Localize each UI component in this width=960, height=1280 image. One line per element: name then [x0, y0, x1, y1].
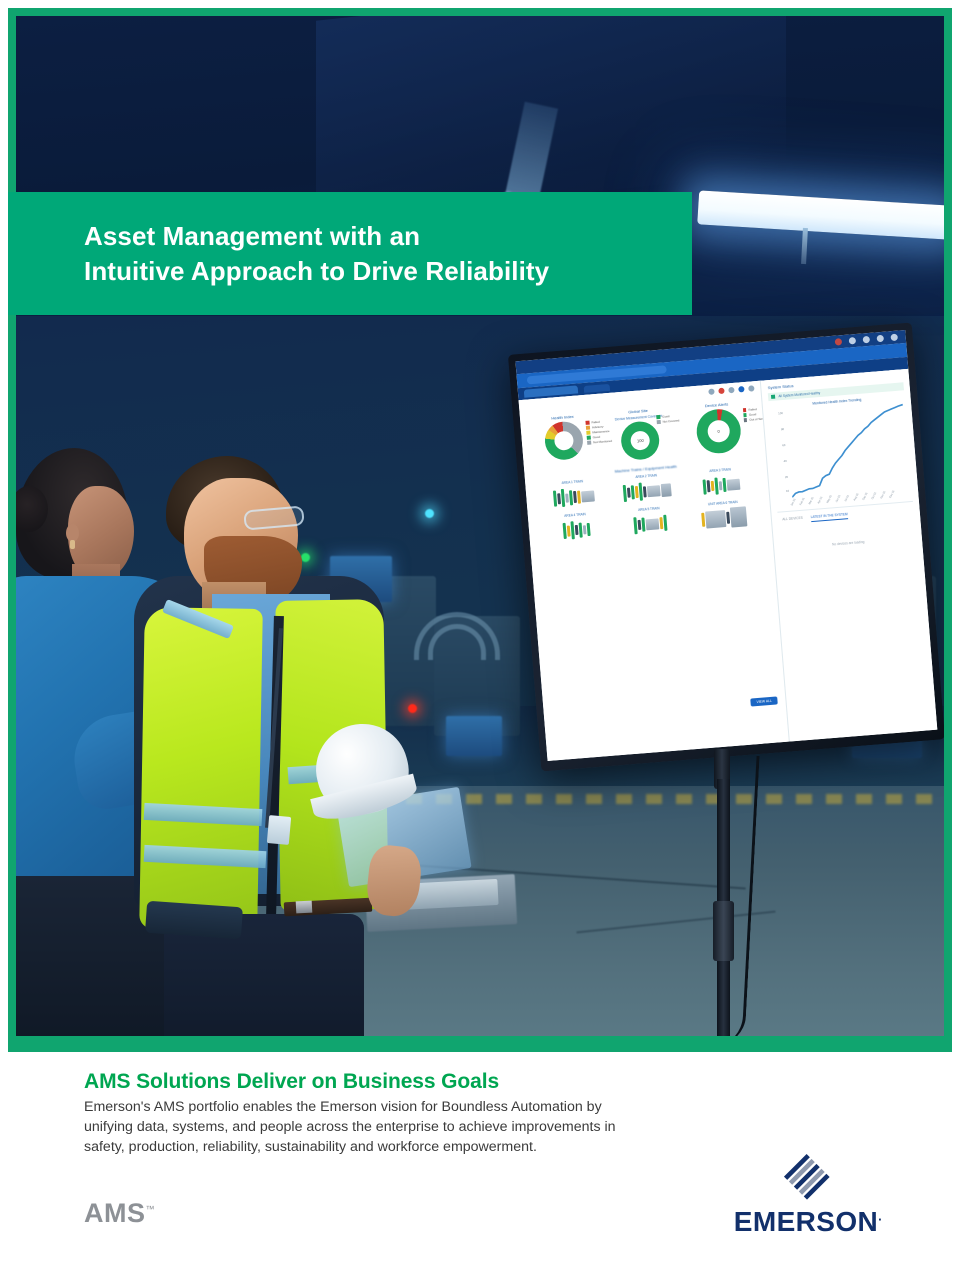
hero-title-banner: Asset Management with an Intuitive Appro…: [8, 192, 692, 315]
asset-tile[interactable]: AREA 5 TRAIN: [613, 504, 687, 540]
browser-icon-extensions[interactable]: [849, 337, 857, 345]
filter-icon[interactable]: [709, 388, 715, 394]
donut-chart-coverage: 100: [620, 420, 661, 461]
machine-display: [446, 716, 502, 756]
legend-swatch: [744, 418, 748, 422]
footer-body-text: Emerson's AMS portfolio enables the Emer…: [84, 1097, 649, 1157]
hi-vis-jacket-left: [139, 607, 263, 931]
legend-swatch: [657, 420, 661, 424]
emerson-wordmark: EMERSON.: [720, 1206, 896, 1238]
y-tick: 20: [785, 475, 788, 479]
asset-tile[interactable]: UNIT AREA 6 TRAIN: [687, 498, 761, 534]
alert-icon[interactable]: [719, 388, 725, 394]
kpi-title: Health Index: [543, 413, 581, 421]
dashboard-right-panel: System Status All System Monitored Healt…: [760, 369, 937, 742]
status-text: All System Monitored Healthy: [778, 391, 820, 398]
legend-swatch: [588, 441, 592, 445]
asset-tile[interactable]: AREA 4 TRAIN: [539, 510, 613, 546]
kpi-card-device-alerts[interactable]: Device Alerts 0 Failed Good Out of Servi…: [694, 401, 742, 455]
legend-swatch: [743, 408, 747, 412]
x-tick: Aug 01: [854, 493, 860, 502]
status-led-cyan: [425, 509, 434, 518]
kpi-legend: Good Not Covered: [657, 413, 680, 425]
legend-swatch: [657, 415, 661, 419]
dashboard-left-panel: Health Index Failed Advisory Maintenance…: [519, 381, 790, 761]
legend-swatch: [586, 421, 590, 425]
legend-swatch: [586, 426, 590, 430]
more-icon[interactable]: [749, 385, 755, 391]
y-tick: 100: [778, 411, 783, 415]
tab-all-devices[interactable]: ALL DEVICES: [782, 516, 803, 525]
hero-photo-frame: Health Index Failed Advisory Maintenance…: [8, 8, 952, 1052]
legend-label: Failed: [748, 407, 756, 412]
ams-logo-text: AMS: [84, 1198, 146, 1228]
man-sleeve-cuff: [145, 901, 243, 940]
y-tick: 40: [783, 459, 786, 463]
woman-earring: [70, 540, 75, 549]
empty-state-message: No devices are loading: [781, 536, 916, 551]
x-tick: Feb 01: [800, 497, 806, 506]
donut-chart-device-alerts: 0: [695, 408, 742, 455]
status-badge: [771, 395, 775, 399]
marketing-page: Health Index Failed Advisory Maintenance…: [0, 0, 960, 1280]
settings-icon[interactable]: [739, 386, 745, 392]
donut-chart-health-index: [544, 420, 585, 461]
kpi-value: 100: [637, 438, 644, 444]
tab-latest-in-system[interactable]: LATEST IN THE SYSTEM: [811, 512, 848, 522]
asset-tile[interactable]: AREA 3 TRAIN: [684, 465, 758, 501]
x-tick: Jul 01: [845, 495, 851, 503]
page-title: Asset Management with an Intuitive Appro…: [84, 219, 549, 288]
browser-icon-settings[interactable]: [877, 335, 885, 343]
hero-photo: Health Index Failed Advisory Maintenance…: [16, 16, 944, 1036]
asset-tile[interactable]: AREA 2 TRAIN: [610, 471, 684, 507]
y-tick: 10: [786, 489, 789, 493]
page-title-line-1: Asset Management with an: [84, 221, 420, 251]
x-tick: Dec 01: [889, 490, 895, 499]
legend-swatch: [587, 436, 591, 440]
x-tick: Mar 01: [809, 497, 815, 506]
view-all-button[interactable]: VIEW ALL: [750, 696, 778, 706]
legend-label: Good: [662, 414, 670, 419]
y-tick: 80: [781, 427, 784, 431]
ams-trademark-symbol: ™: [146, 1204, 156, 1214]
x-tick: Sep 01: [862, 492, 868, 501]
ams-dashboard: Health Index Failed Advisory Maintenance…: [519, 369, 938, 761]
x-tick: Oct 01: [871, 492, 877, 500]
id-badge: [267, 815, 291, 845]
kpi-card-measurement-coverage[interactable]: Global Site Device Measurement Coverage …: [614, 407, 666, 462]
footer-text-block: AMS Solutions Deliver on Business Goals …: [84, 1070, 912, 1157]
legend-label: Good: [593, 435, 601, 440]
emerson-logo: EMERSON.: [720, 1152, 896, 1238]
legend-label: Failed: [591, 420, 599, 425]
x-tick: Jun 01: [836, 495, 842, 503]
x-tick: May 01: [827, 495, 834, 504]
page-title-line-2: Intuitive Approach to Drive Reliability: [84, 256, 549, 286]
trend-line-chart: 100 80 60 40 20 10: [770, 401, 913, 508]
factory-scene: Health Index Failed Advisory Maintenance…: [16, 16, 944, 1036]
belt-buckle: [296, 901, 313, 914]
legend-label: Good: [749, 412, 757, 417]
x-tick: Nov 01: [880, 491, 886, 500]
dashboard-toolbar[interactable]: [709, 385, 755, 395]
kpi-value: 0: [717, 429, 720, 434]
browser-icon-account[interactable]: [863, 336, 871, 344]
legend-label: Not Covered: [662, 418, 679, 423]
legend-item: Not Monitored: [587, 439, 612, 445]
kpi-legend: Failed Advisory Maintenance Good Not Mon…: [586, 419, 612, 446]
kpi-title: Device Alerts: [694, 401, 738, 410]
x-tick: Jan 01: [791, 498, 797, 506]
browser-tab-new[interactable]: [584, 383, 610, 392]
status-led-green: [301, 553, 310, 562]
footer-heading: AMS Solutions Deliver on Business Goals: [84, 1070, 912, 1094]
y-tick: 60: [782, 443, 785, 447]
emerson-period: .: [878, 1209, 882, 1224]
browser-icon-menu[interactable]: [890, 334, 898, 342]
legend-item: Not Covered: [657, 418, 680, 424]
status-led-red: [408, 704, 417, 713]
asset-tile[interactable]: AREA 1 TRAIN: [536, 477, 610, 513]
emerson-wordmark-text: EMERSON: [734, 1206, 878, 1237]
x-tick: Apr 01: [818, 496, 824, 504]
ams-logo: AMS™: [84, 1198, 155, 1229]
legend-swatch: [743, 413, 747, 417]
emerson-diamond-icon: [782, 1152, 834, 1204]
browser-icon-record[interactable]: [835, 338, 843, 346]
legend-swatch: [587, 431, 591, 435]
kpi-donut-row: Health Index Failed Advisory Maintenance…: [527, 399, 759, 468]
monitor-screen[interactable]: Health Index Failed Advisory Maintenance…: [515, 330, 937, 761]
kpi-card-health-index[interactable]: Health Index Failed Advisory Maintenance…: [543, 413, 585, 467]
refresh-icon[interactable]: [729, 387, 735, 393]
wall-monitor: Health Index Failed Advisory Maintenance…: [508, 322, 944, 771]
legend-label: Not Monitored: [593, 439, 612, 444]
footer: AMS Solutions Deliver on Business Goals …: [8, 1052, 952, 1270]
